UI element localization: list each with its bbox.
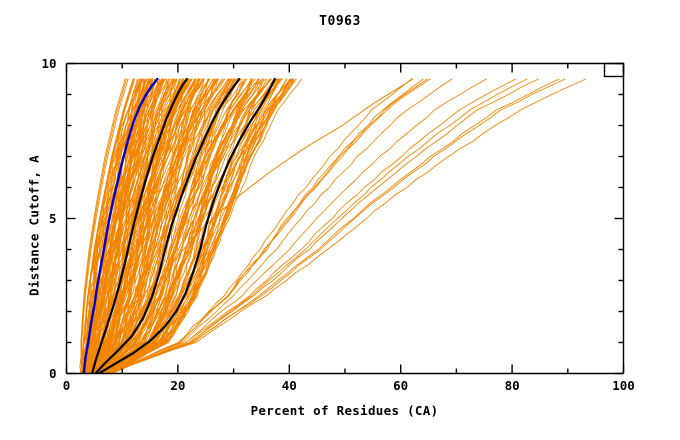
plot-canvas xyxy=(0,0,680,440)
legend-corner-box xyxy=(605,64,624,77)
y-tick-label: 0 xyxy=(27,366,57,381)
x-tick-label: 100 xyxy=(604,378,644,393)
curves-layer xyxy=(80,79,586,374)
x-tick-label: 20 xyxy=(158,378,198,393)
x-tick-label: 60 xyxy=(381,378,421,393)
x-tick-label: 40 xyxy=(269,378,309,393)
y-tick-label: 10 xyxy=(27,56,57,71)
y-tick-label: 5 xyxy=(27,211,57,226)
x-tick-label: 80 xyxy=(492,378,532,393)
chart-figure: T0963 Distance Cutoff, A Percent of Resi… xyxy=(0,0,680,440)
